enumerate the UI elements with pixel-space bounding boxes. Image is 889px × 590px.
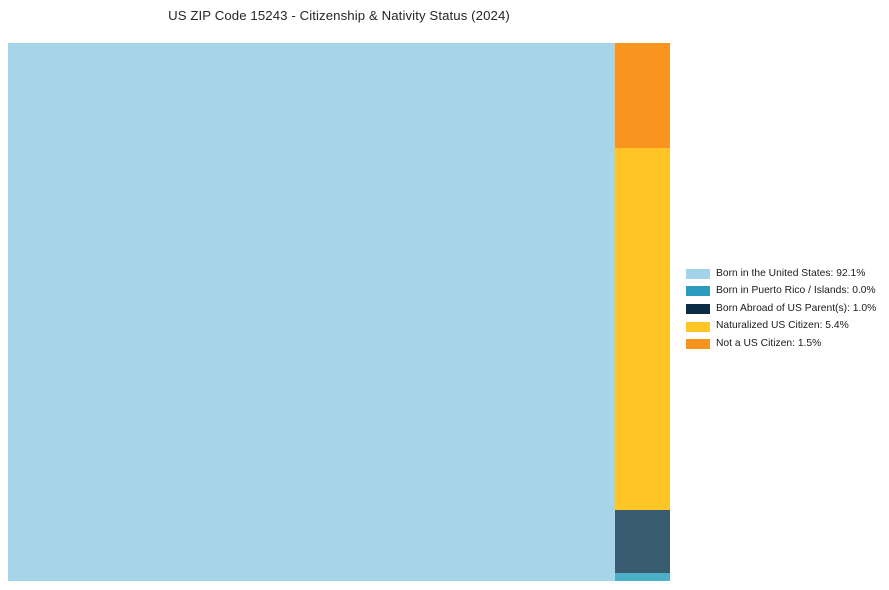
color-swatch-icon xyxy=(686,322,710,332)
treemap-tile[interactable] xyxy=(615,573,670,581)
treemap-plot-area xyxy=(8,43,670,581)
color-swatch-icon xyxy=(686,286,710,296)
treemap-tile[interactable] xyxy=(615,510,670,573)
legend-item-label: Naturalized US Citizen: 5.4% xyxy=(716,321,849,331)
color-swatch-icon xyxy=(686,304,710,314)
color-swatch-icon xyxy=(686,269,710,279)
color-swatch-icon xyxy=(686,339,710,349)
chart-legend: Born in the United States: 92.1%Born in … xyxy=(686,265,882,353)
legend-item[interactable]: Born in the United States: 92.1% xyxy=(686,265,882,283)
legend-item-label: Born in the United States: 92.1% xyxy=(716,269,865,279)
treemap-chart-figure: US ZIP Code 15243 - Citizenship & Nativi… xyxy=(0,0,889,590)
legend-item[interactable]: Born in Puerto Rico / Islands: 0.0% xyxy=(686,283,882,301)
legend-item-label: Born in Puerto Rico / Islands: 0.0% xyxy=(716,286,876,296)
treemap-tile[interactable] xyxy=(615,148,670,510)
treemap-tile[interactable] xyxy=(615,43,670,148)
chart-title: US ZIP Code 15243 - Citizenship & Nativi… xyxy=(0,8,678,23)
legend-item[interactable]: Not a US Citizen: 1.5% xyxy=(686,335,882,353)
legend-item[interactable]: Born Abroad of US Parent(s): 1.0% xyxy=(686,300,882,318)
treemap-tile[interactable] xyxy=(8,43,615,581)
legend-item-label: Born Abroad of US Parent(s): 1.0% xyxy=(716,304,876,314)
legend-item[interactable]: Naturalized US Citizen: 5.4% xyxy=(686,318,882,336)
legend-item-label: Not a US Citizen: 1.5% xyxy=(716,339,821,349)
